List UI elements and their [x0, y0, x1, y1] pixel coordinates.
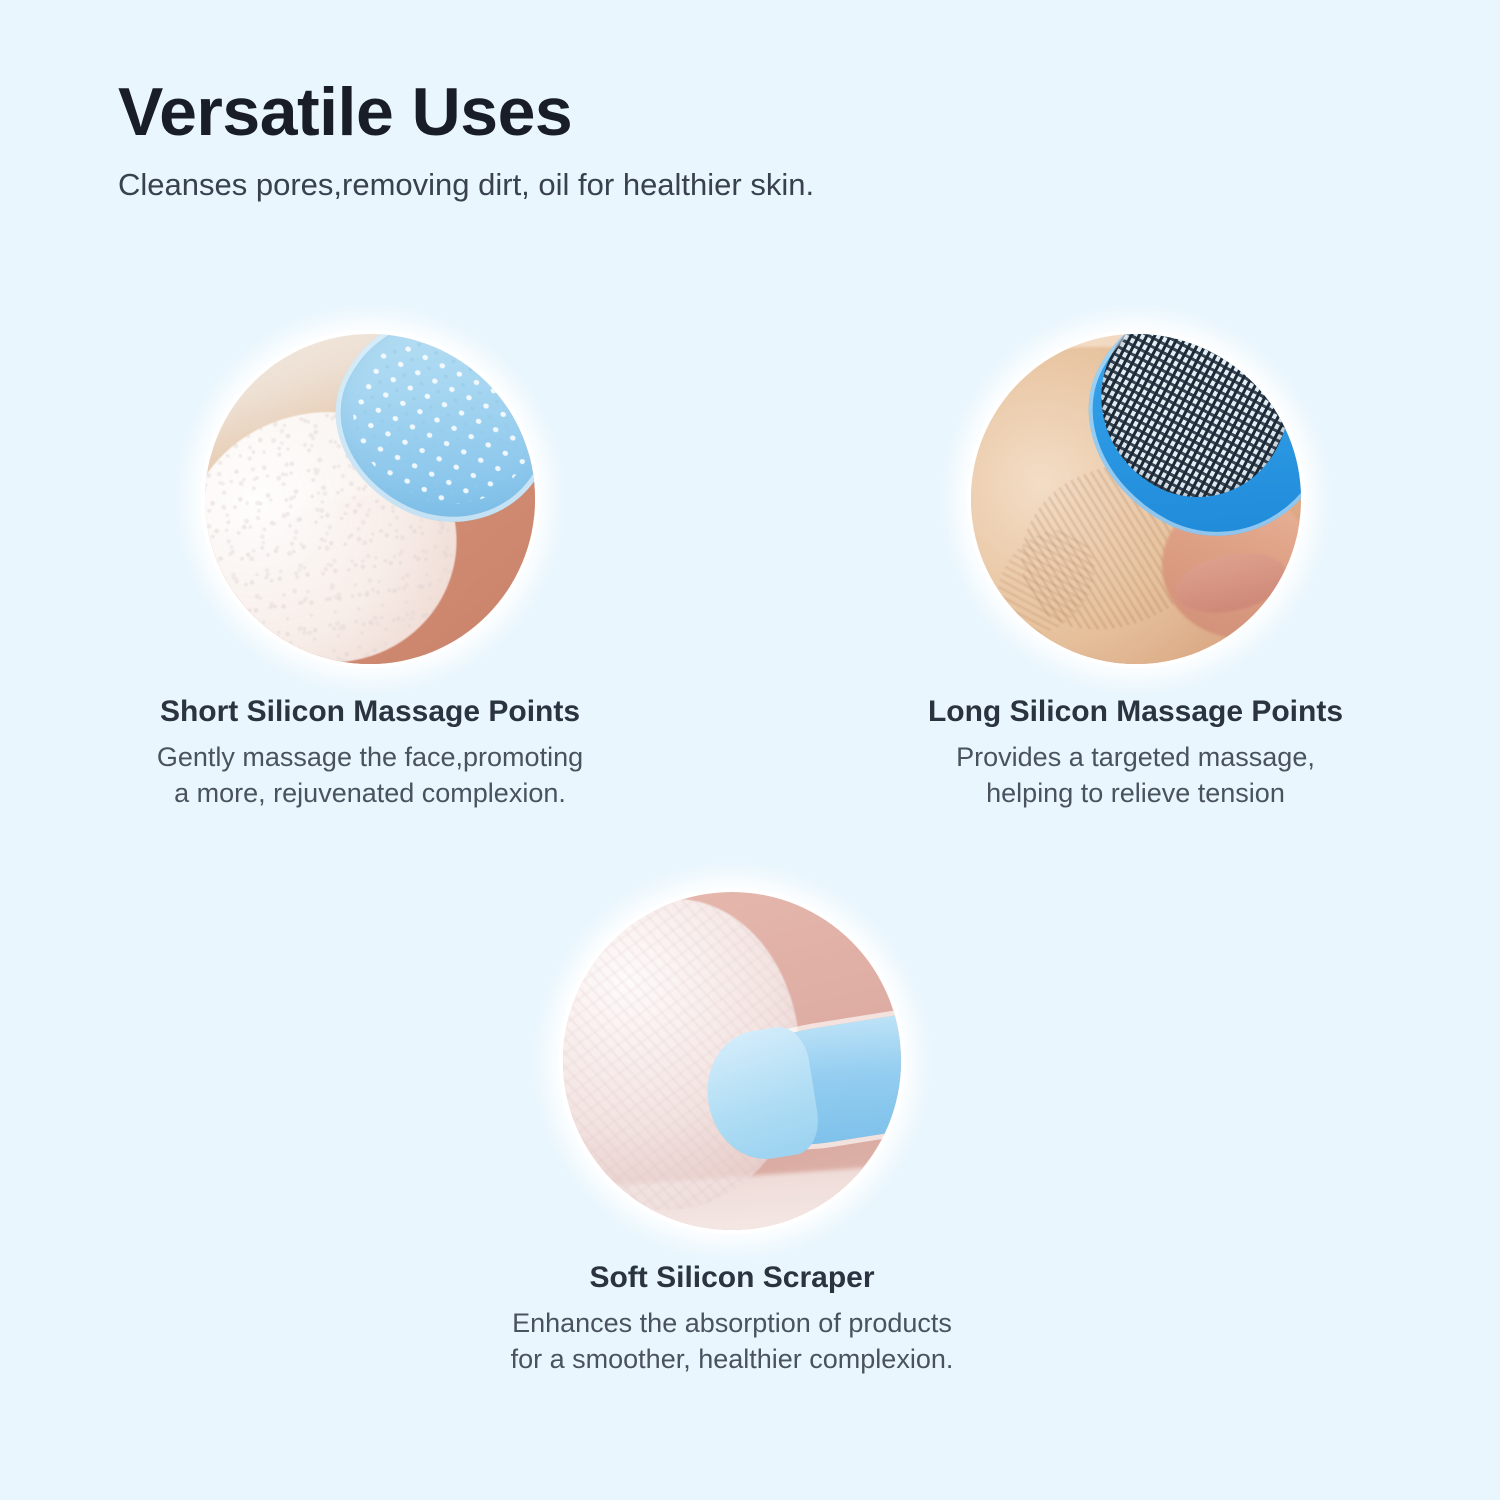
feature-description: Gently massage the face,promoting a more…	[60, 730, 680, 811]
feature-description-line-2: for a smoother, healthier complexion.	[422, 1342, 1042, 1378]
feature-card-soft-scraper: Soft Silicon Scraper Enhances the absorp…	[422, 888, 1042, 1377]
short-silicon-massage-points-photo	[201, 330, 539, 668]
feature-card-short-massage-points: Short Silicon Massage Points Gently mass…	[60, 330, 680, 811]
feature-description-line-1: Provides a targeted massage,	[828, 740, 1443, 776]
feature-title: Soft Silicon Scraper	[422, 1234, 1042, 1296]
long-silicon-massage-points-photo	[967, 330, 1305, 668]
photo-clip	[971, 334, 1301, 664]
feature-description-line-2: helping to relieve tension	[828, 776, 1443, 812]
feature-title: Long Silicon Massage Points	[828, 668, 1443, 730]
page-header: Versatile Uses Cleanses pores,removing d…	[118, 78, 1118, 202]
feature-description-line-1: Enhances the absorption of products	[422, 1306, 1042, 1342]
feature-card-long-massage-points: Long Silicon Massage Points Provides a t…	[828, 330, 1443, 811]
page-subtitle: Cleanses pores,removing dirt, oil for he…	[118, 146, 1118, 202]
feature-description-line-2: a more, rejuvenated complexion.	[60, 776, 680, 812]
feature-title: Short Silicon Massage Points	[60, 668, 680, 730]
page-title: Versatile Uses	[118, 78, 1118, 146]
soft-silicon-scraper-photo	[559, 888, 905, 1234]
feature-description: Provides a targeted massage, helping to …	[828, 730, 1443, 811]
photo-clip	[563, 892, 901, 1230]
photo-clip	[205, 334, 535, 664]
feature-description-line-1: Gently massage the face,promoting	[60, 740, 680, 776]
feature-description: Enhances the absorption of products for …	[422, 1296, 1042, 1377]
